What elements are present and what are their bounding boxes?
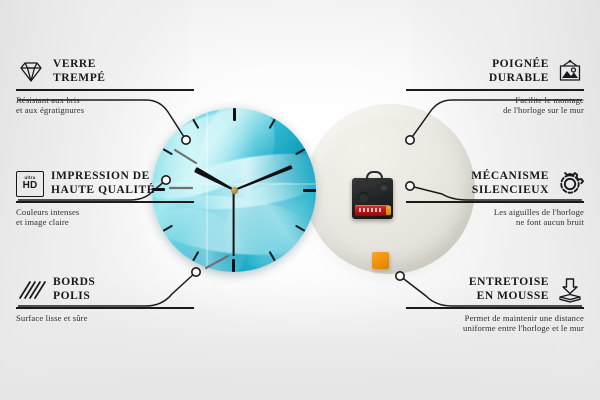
- foam-spacer: [372, 252, 389, 269]
- feature-desc-line2: uniforme entre l'horloge et le mur: [406, 323, 584, 334]
- gear-icon: [556, 171, 584, 197]
- feature-description: Les aiguilles de l'horloge ne font aucun…: [406, 207, 584, 229]
- mechanism-slot: [356, 182, 376, 187]
- badge-large-label: HD: [23, 181, 38, 191]
- feature-impression-haute-qualite[interactable]: ultra HD IMPRESSION DE HAUTE QUALITÉ Cou…: [16, 170, 194, 228]
- feature-desc-line1: Les aiguilles de l'horloge: [406, 207, 584, 218]
- feature-description: Couleurs intenses et image claire: [16, 207, 194, 229]
- feature-entretoise-mousse[interactable]: ENTRETOISE EN MOUSSE Permet de maintenir…: [406, 276, 584, 334]
- feature-desc-line1: Couleurs intenses: [16, 207, 194, 218]
- clock-tick: [234, 189, 316, 191]
- feature-title-line1: MÉCANISME: [471, 170, 549, 184]
- feature-title: MÉCANISME SILENCIEUX: [471, 170, 549, 197]
- feature-title-line1: BORDS: [53, 276, 95, 290]
- feature-desc-line1: Surface lisse et sûre: [16, 313, 194, 324]
- feature-divider: [16, 89, 194, 91]
- feature-title-line2: HAUTE QUALITÉ: [51, 184, 155, 198]
- feature-desc-line1: Résistant aux bris: [16, 95, 194, 106]
- feature-mecanisme-silencieux[interactable]: MÉCANISME SILENCIEUX Les aiguilles de l'…: [406, 170, 584, 228]
- feature-divider: [16, 201, 194, 203]
- feature-divider: [406, 307, 584, 309]
- feature-header: ultra HD IMPRESSION DE HAUTE QUALITÉ: [16, 170, 194, 197]
- feature-title: IMPRESSION DE HAUTE QUALITÉ: [51, 170, 155, 197]
- feature-header: POIGNÉE DURABLE: [406, 58, 584, 85]
- clock-center-cap: [231, 187, 238, 194]
- feature-title-line1: ENTRETOISE: [469, 276, 549, 290]
- clock-second-hand: [233, 190, 235, 256]
- feature-title-line2: DURABLE: [489, 72, 549, 86]
- feature-desc-line2: et image claire: [16, 217, 194, 228]
- feature-title-line1: IMPRESSION DE: [51, 170, 155, 184]
- feature-bords-polis[interactable]: BORDS POLIS Surface lisse et sûre: [16, 276, 194, 323]
- feature-title-line2: EN MOUSSE: [469, 290, 549, 304]
- mechanism-dial-right: [380, 183, 388, 191]
- feature-title-line2: TREMPÉ: [53, 72, 106, 86]
- feature-divider: [406, 89, 584, 91]
- battery-label: [359, 208, 381, 212]
- feature-desc-line2: de l'horloge sur le mur: [406, 105, 584, 116]
- clock-tick: [233, 108, 235, 190]
- feature-header: MÉCANISME SILENCIEUX: [406, 170, 584, 197]
- ultra-hd-badge-icon: ultra HD: [16, 171, 44, 197]
- feature-desc-line2: et aux égratignures: [16, 105, 194, 116]
- feature-desc-line2: ne font aucun bruit: [406, 217, 584, 228]
- feature-title: ENTRETOISE EN MOUSSE: [469, 276, 549, 303]
- feature-title-line1: VERRE: [53, 58, 106, 72]
- picture-frame-hanger-icon: [556, 59, 584, 85]
- clock-mechanism: [352, 178, 393, 219]
- feature-title-line2: SILENCIEUX: [471, 184, 549, 198]
- feature-desc-line1: Permet de maintenir une distance: [406, 313, 584, 324]
- feature-description: Permet de maintenir une distance uniform…: [406, 313, 584, 335]
- feature-verre-trempe[interactable]: VERRE TREMPÉ Résistant aux bris et aux é…: [16, 58, 194, 116]
- feature-header: ENTRETOISE EN MOUSSE: [406, 276, 584, 303]
- diamond-icon: [16, 60, 46, 84]
- arrow-onto-layers-icon: [556, 277, 584, 303]
- feature-title-line2: POLIS: [53, 290, 95, 304]
- feature-header: BORDS POLIS: [16, 276, 194, 303]
- feature-title: BORDS POLIS: [53, 276, 95, 303]
- feature-desc-line1: Facilite le montage: [406, 95, 584, 106]
- feature-title-line1: POIGNÉE: [489, 58, 549, 72]
- feature-divider: [16, 307, 194, 309]
- feature-description: Facilite le montage de l'horloge sur le …: [406, 95, 584, 117]
- infographic-canvas: VERRE TREMPÉ Résistant aux bris et aux é…: [0, 0, 600, 400]
- battery: [355, 205, 390, 216]
- mechanism-dial-left: [358, 192, 369, 203]
- feature-title: VERRE TREMPÉ: [53, 58, 106, 85]
- feature-poignee-durable[interactable]: POIGNÉE DURABLE Facilite le montage de l…: [406, 58, 584, 116]
- feature-divider: [406, 201, 584, 203]
- feature-title: POIGNÉE DURABLE: [489, 58, 549, 85]
- polished-edges-icon: [16, 278, 46, 302]
- feature-description: Surface lisse et sûre: [16, 313, 194, 324]
- feature-description: Résistant aux bris et aux égratignures: [16, 95, 194, 117]
- feature-header: VERRE TREMPÉ: [16, 58, 194, 85]
